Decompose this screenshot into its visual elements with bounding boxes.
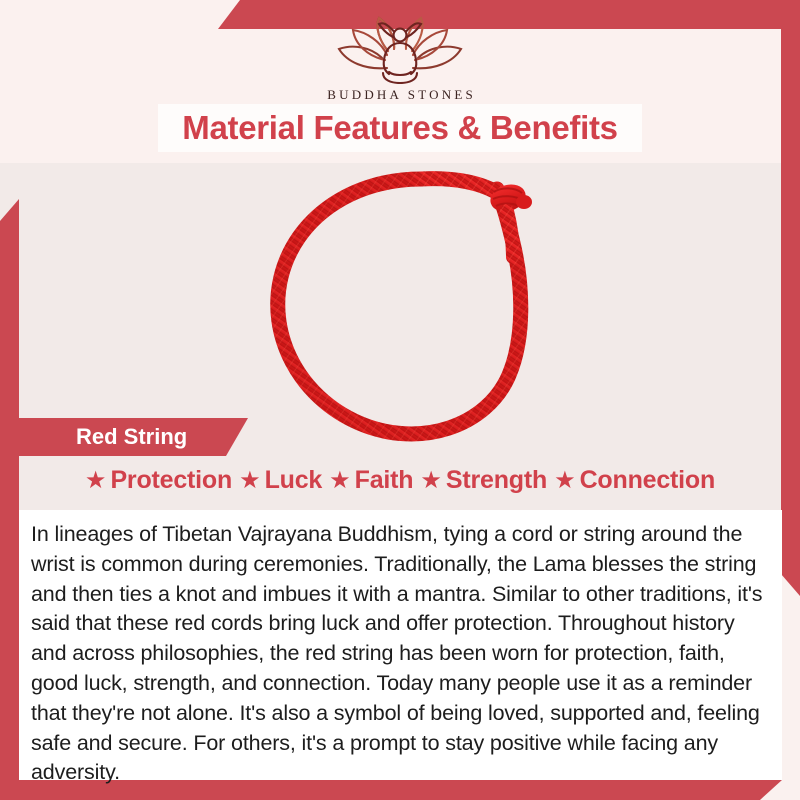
product-infographic: BUDDHA STONES Material Features & Benefi… (0, 0, 800, 800)
star-icon: ★ (329, 469, 351, 493)
lotus-meditation-icon (325, 16, 475, 84)
benefits-list: ★ Protection ★ Luck ★ Faith ★ Strength ★… (0, 466, 800, 495)
benefit-item: ★ Strength (420, 466, 547, 495)
description-text: In lineages of Tibetan Vajrayana Buddhis… (31, 520, 768, 788)
benefit-item: ★ Faith (329, 466, 413, 495)
star-icon: ★ (554, 469, 576, 493)
benefit-item: ★ Protection (85, 466, 232, 495)
red-string-bracelet-illustration (255, 165, 575, 450)
benefit-label: Luck (265, 466, 323, 495)
brand-logo: BUDDHA STONES (0, 16, 800, 103)
product-image (255, 165, 575, 450)
description-panel: In lineages of Tibetan Vajrayana Buddhis… (19, 510, 782, 780)
star-icon: ★ (85, 469, 107, 493)
material-name-banner: Red String (19, 418, 248, 456)
benefit-label: Strength (446, 466, 547, 495)
benefit-label: Protection (110, 466, 232, 495)
star-icon: ★ (420, 469, 442, 493)
material-name: Red String (19, 424, 229, 450)
decorative-bar-left (0, 199, 19, 800)
benefit-label: Faith (355, 466, 414, 495)
benefit-item: ★ Luck (239, 466, 322, 495)
page-title: Material Features & Benefits (182, 109, 617, 147)
benefit-item: ★ Connection (554, 466, 715, 495)
benefit-label: Connection (580, 466, 716, 495)
brand-wordmark: BUDDHA STONES (0, 87, 800, 103)
page-title-banner: Material Features & Benefits (158, 104, 642, 152)
star-icon: ★ (239, 469, 261, 493)
